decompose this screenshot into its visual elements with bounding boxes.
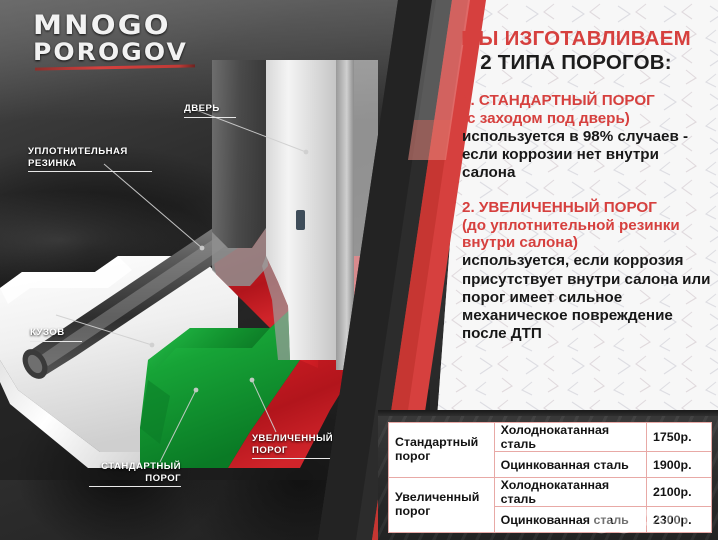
logo-line-1: MNOGO bbox=[33, 14, 214, 39]
label-door-underline bbox=[184, 117, 236, 118]
poster-root: ДВЕРЬ УПЛОТНИТЕЛЬНАЯ РЕЗИНКА КУЗОВ СТАНД… bbox=[0, 0, 718, 540]
car-sill-illustration bbox=[0, 60, 430, 480]
info-block-enlarged: 2. УВЕЛИЧЕННЫЙ ПОРОГ (до уплотнительной … bbox=[462, 199, 712, 344]
label-enlarged-sill: УВЕЛИЧЕННЫЙ ПОРОГ bbox=[252, 433, 344, 459]
price-row-material: Оцинкованная сталь bbox=[494, 507, 646, 533]
info-block-standard: 1. СТАНДАРТНЫЙ ПОРОГ (с заходом под двер… bbox=[462, 92, 712, 183]
price-row-name-standard: Стандартный порог bbox=[389, 423, 495, 478]
logo-line-2: POROGOV bbox=[33, 41, 208, 63]
price-table: Стандартный порог Холоднокатанная сталь … bbox=[388, 422, 712, 533]
label-seal: УПЛОТНИТЕЛЬНАЯ РЕЗИНКА bbox=[28, 146, 152, 172]
block-2-title: 2. УВЕЛИЧЕННЫЙ ПОРОГ bbox=[462, 199, 712, 217]
block-1-subtitle: (с заходом под дверь) bbox=[462, 110, 712, 128]
block-2-subtitle: (до уплотнительной резинки внутри салона… bbox=[462, 217, 712, 253]
block-1-body: используется в 98% случаев - если корроз… bbox=[462, 128, 712, 183]
price-row-price: 1750р. bbox=[646, 423, 711, 452]
table-row: Стандартный порог Холоднокатанная сталь … bbox=[389, 423, 712, 452]
price-row-name-enlarged: Увеличенный порог bbox=[389, 478, 495, 533]
brand-logo: MNOGO POROGOV bbox=[33, 14, 201, 69]
heading-block: МЫ ИЗГОТАВЛИВАЕМ 2 ТИПА ПОРОГОВ: bbox=[442, 28, 710, 75]
block-1-title: 1. СТАНДАРТНЫЙ ПОРОГ bbox=[462, 92, 712, 110]
heading-line-1: МЫ ИЗГОТАВЛИВАЕМ bbox=[442, 28, 710, 50]
label-standard-underline bbox=[89, 486, 181, 487]
info-blocks: 1. СТАНДАРТНЫЙ ПОРОГ (с заходом под двер… bbox=[462, 92, 712, 360]
price-row-price: 1900р. bbox=[646, 452, 711, 478]
price-row-price: 2100р. bbox=[646, 478, 711, 507]
label-seal-underline bbox=[28, 171, 152, 172]
label-door: ДВЕРЬ bbox=[184, 103, 236, 118]
label-body-underline bbox=[30, 341, 82, 342]
label-standard-sill: СТАНДАРТНЫЙ ПОРОГ bbox=[89, 461, 181, 487]
table-row: Увеличенный порог Холоднокатанная сталь … bbox=[389, 478, 712, 507]
price-row-material: Оцинкованная сталь bbox=[494, 452, 646, 478]
label-body: КУЗОВ bbox=[30, 327, 82, 342]
price-row-price: 2300р. bbox=[646, 507, 711, 533]
label-enlarged-underline bbox=[252, 458, 344, 459]
block-2-body: используется, если коррозия присутствует… bbox=[462, 252, 712, 343]
price-row-material: Холоднокатанная сталь bbox=[494, 478, 646, 507]
price-row-material: Холоднокатанная сталь bbox=[494, 423, 646, 452]
heading-line-2: 2 ТИПА ПОРОГОВ: bbox=[442, 52, 710, 75]
